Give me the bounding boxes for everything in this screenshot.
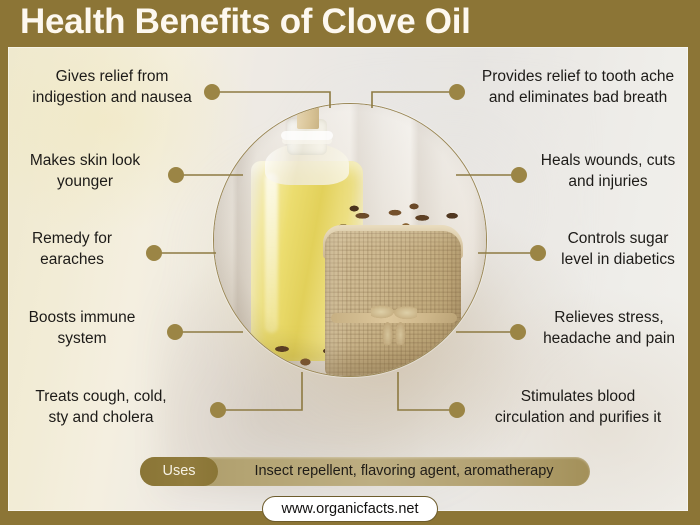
benefit-label-sugar: Controls sugar level in diabetics xyxy=(546,228,690,270)
benefit-label-earache: Remedy for earaches xyxy=(8,228,136,270)
frame-line-left xyxy=(8,47,9,511)
uses-value: Insect repellent, flavoring agent, aroma… xyxy=(226,457,582,486)
clove-oil-photo xyxy=(213,103,487,377)
benefit-label-indigestion: Gives relief from indigestion and nausea xyxy=(14,66,210,108)
benefit-label-immune: Boosts immune system xyxy=(8,307,156,349)
benefit-label-toothache: Provides relief to tooth ache and elimin… xyxy=(466,66,690,108)
uses-label: Uses xyxy=(140,457,218,486)
benefit-label-skin: Makes skin look younger xyxy=(10,150,160,192)
frame-line-right xyxy=(687,47,688,511)
header-bar: Health Benefits of Clove Oil xyxy=(0,0,700,50)
page-title: Health Benefits of Clove Oil xyxy=(20,2,471,42)
frame-line-top xyxy=(8,47,688,48)
uses-bar: Uses Insect repellent, flavoring agent, … xyxy=(140,457,590,486)
benefit-label-cough: Treats cough, cold, sty and cholera xyxy=(8,386,194,428)
benefit-label-stress: Relieves stress, headache and pain xyxy=(528,307,690,349)
clove-oil-photo-inner xyxy=(213,103,487,377)
benefit-label-wounds: Heals wounds, cuts and injuries xyxy=(528,150,688,192)
benefit-label-circulation: Stimulates blood circulation and purifie… xyxy=(466,386,690,428)
photo-vignette xyxy=(213,103,487,377)
infographic-root: Health Benefits of Clove Oil xyxy=(0,0,700,525)
website-badge[interactable]: www.organicfacts.net xyxy=(262,496,438,522)
